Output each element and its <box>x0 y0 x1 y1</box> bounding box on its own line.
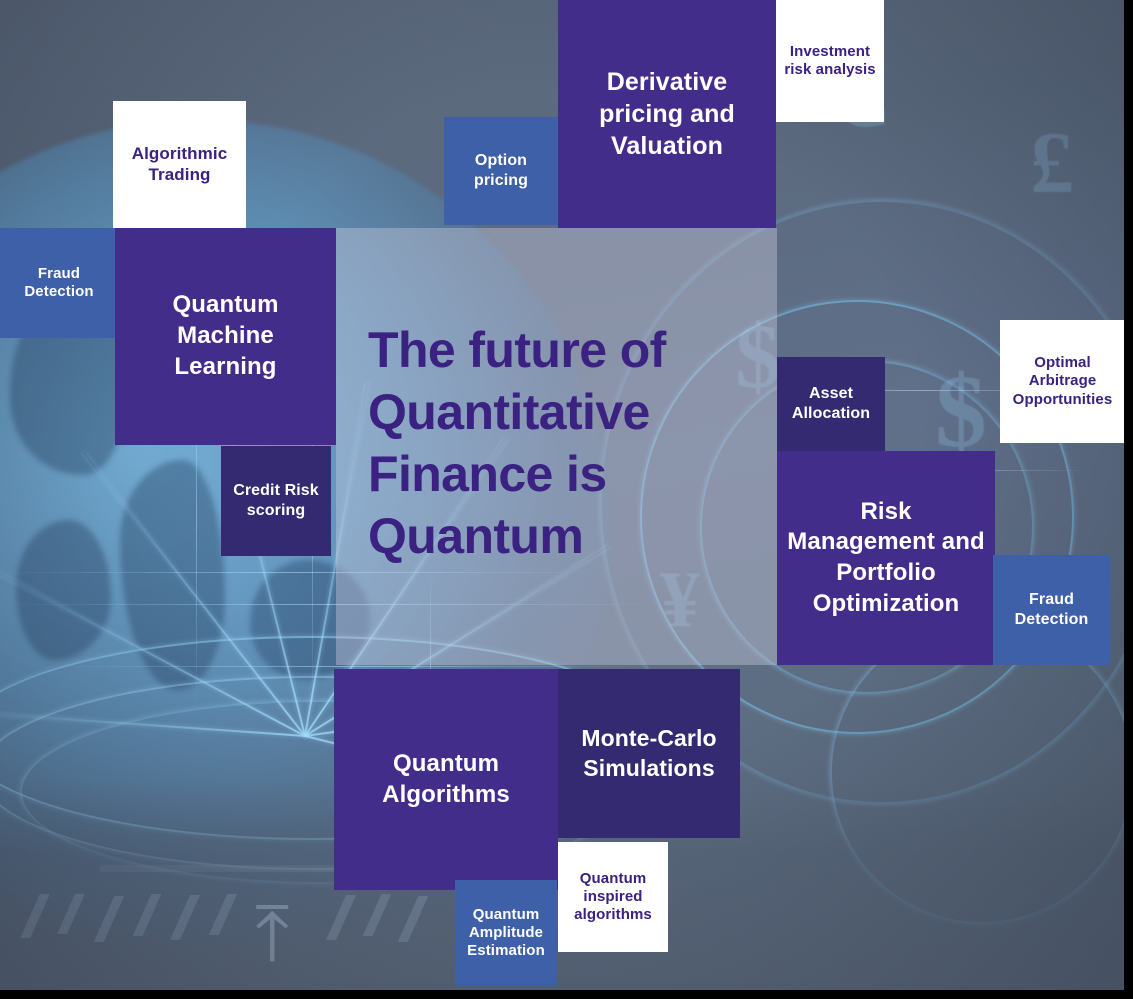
tile-label: Quantum Machine Learning <box>123 290 328 382</box>
tile-quantum-machine-learning[interactable]: Quantum Machine Learning <box>115 228 336 445</box>
tile-investment-risk-analysis[interactable]: Investment risk analysis <box>776 0 884 122</box>
headline-panel: The future of Quantitative Finance is Qu… <box>336 228 777 665</box>
tile-fraud-detection-right[interactable]: Fraud Detection <box>993 555 1110 665</box>
page-title: The future of Quantitative Finance is Qu… <box>336 319 777 575</box>
tile-quantum-amplitude[interactable]: Quantum Amplitude Estimation <box>455 880 557 986</box>
tile-label: Quantum inspired algorithms <box>566 870 660 925</box>
tile-label: Quantum Algorithms <box>342 749 550 810</box>
tile-algorithmic-trading[interactable]: Algorithmic Trading <box>113 101 246 228</box>
tile-label: Algorithmic Trading <box>121 144 238 185</box>
tile-option-pricing[interactable]: Option pricing <box>444 117 558 225</box>
tile-risk-management[interactable]: Risk Management and Portfolio Optimizati… <box>777 451 995 665</box>
tile-fraud-detection-left[interactable]: Fraud Detection <box>0 228 118 338</box>
tile-label: Credit Risk scoring <box>229 481 323 520</box>
tile-credit-risk-scoring[interactable]: Credit Risk scoring <box>221 446 331 556</box>
tile-label: Fraud Detection <box>8 265 110 302</box>
tile-label: Option pricing <box>452 151 550 190</box>
tile-quantum-algorithms[interactable]: Quantum Algorithms <box>334 669 558 890</box>
tile-quantum-inspired[interactable]: Quantum inspired algorithms <box>558 842 668 952</box>
tile-monte-carlo-simulations[interactable]: Monte-Carlo Simulations <box>558 669 740 838</box>
tile-derivative-pricing[interactable]: Derivative pricing and Valuation <box>558 0 776 228</box>
tile-asset-allocation[interactable]: Asset Allocation <box>777 357 885 451</box>
tile-label: Derivative pricing and Valuation <box>566 66 768 162</box>
tile-label: Optimal Arbitrage Opportunities <box>1008 354 1117 409</box>
tile-label: Quantum Amplitude Estimation <box>463 906 549 961</box>
tile-label: Investment risk analysis <box>784 43 876 80</box>
tile-optimal-arbitrage[interactable]: Optimal Arbitrage Opportunities <box>1000 320 1125 443</box>
infographic-canvas: € $ $ £ ¥ ⤒ The future of Quantitative F… <box>0 0 1133 999</box>
tile-label: Fraud Detection <box>1001 590 1102 629</box>
tile-label: Asset Allocation <box>785 384 877 423</box>
tile-label: Monte-Carlo Simulations <box>566 724 732 783</box>
tile-label: Risk Management and Portfolio Optimizati… <box>785 497 987 620</box>
